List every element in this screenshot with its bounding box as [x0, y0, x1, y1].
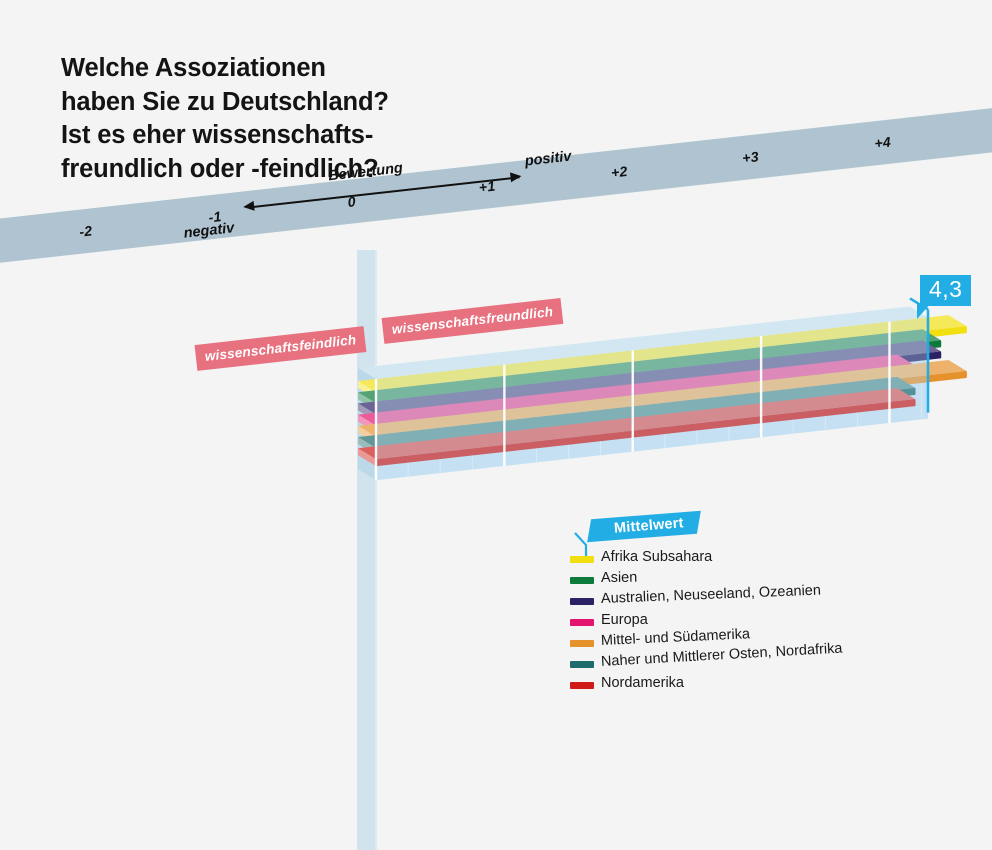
legend-swatch [570, 682, 594, 689]
legend-swatch [570, 598, 594, 605]
infographic-canvas: Welche Assoziationen haben Sie zu Deutsc… [0, 0, 992, 850]
chart-svg [0, 0, 992, 520]
legend-label: Europa [601, 612, 648, 628]
legend-swatch [570, 556, 594, 563]
legend-swatch [570, 640, 594, 647]
legend-swatch [570, 619, 594, 626]
legend-swatch [570, 577, 594, 584]
legend-swatch [570, 661, 594, 668]
legend-label: Asien [601, 570, 637, 586]
legend-item[interactable]: Nordamerika [568, 678, 968, 699]
legend-label: Afrika Subsahara [601, 549, 712, 565]
bar-chart-3d [0, 0, 992, 520]
mean-callout: 4,3 [920, 275, 971, 306]
legend-items: Afrika SubsaharaAsienAustralien, Neuseel… [568, 552, 968, 699]
legend-label: Nordamerika [601, 675, 684, 691]
